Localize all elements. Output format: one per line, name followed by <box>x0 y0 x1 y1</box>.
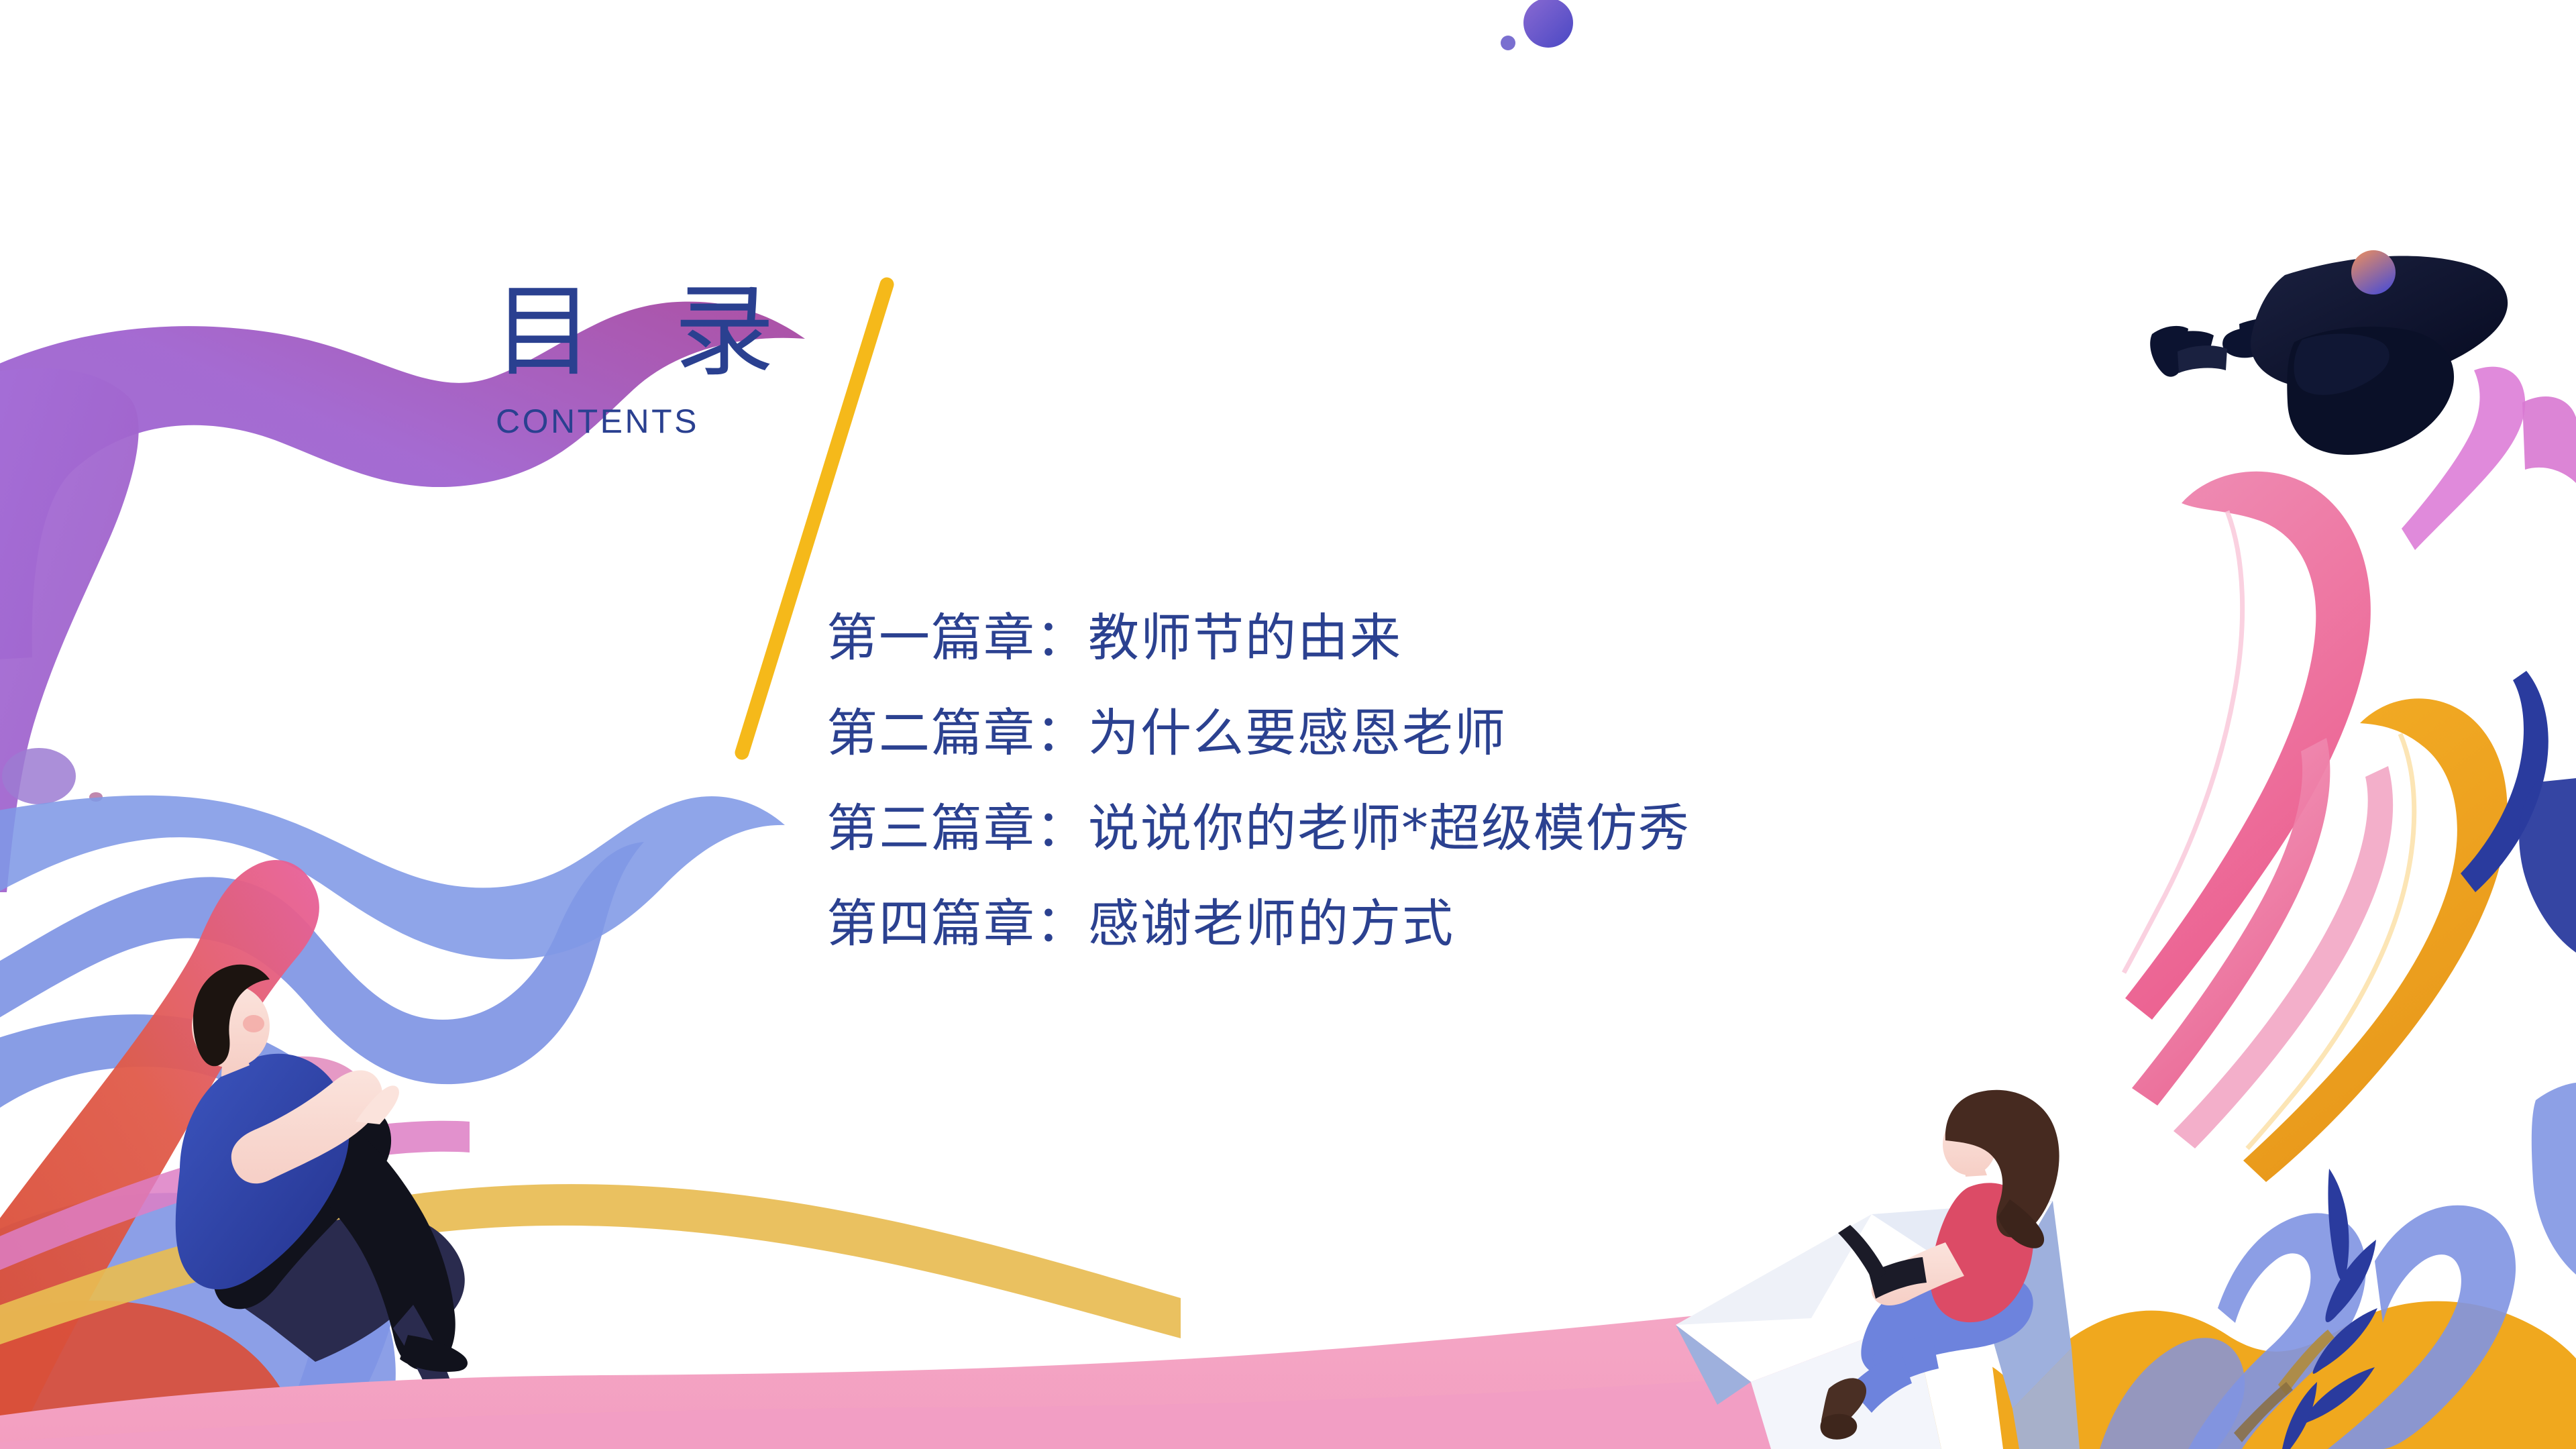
contents-item-1[interactable]: 第一篇章：教师节的由来 <box>826 590 2168 686</box>
blue-ribbon-c <box>0 1014 404 1395</box>
orange-ground-left <box>1798 1352 2039 1449</box>
purple-sphere-group <box>1501 0 1573 50</box>
navy-leaf-a <box>2461 671 2548 892</box>
contents-list: 第一篇章：教师节的由来 第二篇章：为什么要感恩老师 第三篇章：说说你的老师*超级… <box>826 590 2168 971</box>
purple-ellipse <box>2 748 76 804</box>
purple-ribbon-tail <box>0 368 139 892</box>
slide-canvas: 目 录 CONTENTS 第一篇章：教师节的由来 第二篇章：为什么要感恩老师 第… <box>0 0 2576 1449</box>
navy-leaf-b <box>2519 778 2576 953</box>
woman-on-paper-plane-illustration <box>1821 1090 2059 1440</box>
pink-ground-band <box>0 1287 1986 1449</box>
tiny-pink-dot <box>89 792 103 802</box>
blue-blob-left <box>0 1193 396 1449</box>
blue-edge-blob <box>2532 1083 2576 1275</box>
paper-plane-illustration <box>1676 1201 2080 1449</box>
pink-streak <box>0 1121 470 1281</box>
orange-leaf <box>2243 698 2508 1182</box>
orange-ground-band <box>1986 1301 2576 1449</box>
contents-item-3[interactable]: 第三篇章：说说你的老师*超级模仿秀 <box>826 781 2168 876</box>
periwinkle-stems <box>2100 1169 2516 1449</box>
orchid-petal-2 <box>2522 396 2576 483</box>
contents-item-2[interactable]: 第二篇章：为什么要感恩老师 <box>826 686 2168 781</box>
orange-leaf-vein <box>2247 734 2414 1148</box>
seated-man-illustration <box>176 965 489 1434</box>
graduation-cap-icon <box>2150 250 2508 455</box>
pink-ground-band-deep <box>0 1368 1878 1449</box>
blue-ribbon-a <box>0 842 644 1084</box>
pink-stroke-2 <box>2173 766 2393 1148</box>
yellow-streak <box>0 1184 1181 1354</box>
orchid-petal <box>2402 367 2525 550</box>
red-blob-left <box>0 1301 302 1449</box>
page-subtitle: CONTENTS <box>496 402 699 440</box>
red-pink-ribbon <box>0 860 319 1449</box>
blue-ribbon-b <box>0 796 785 959</box>
contents-item-4[interactable]: 第四篇章：感谢老师的方式 <box>826 876 2168 971</box>
